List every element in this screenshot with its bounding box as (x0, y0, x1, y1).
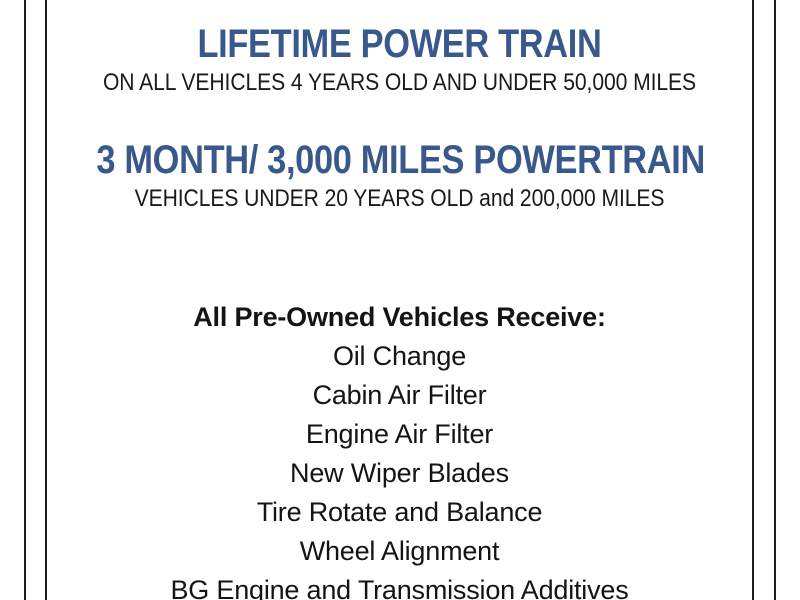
border-rule-right-inner (752, 0, 754, 600)
warranty-subtitle-3month: VEHICLES UNDER 20 YEARS OLD and 200,000 … (89, 186, 709, 212)
service-item: Cabin Air Filter (47, 376, 752, 415)
service-item: New Wiper Blades (47, 454, 752, 493)
service-item: BG Engine and Transmission Additives (47, 571, 752, 600)
warranty-title-3month: 3 MONTH/ 3,000 MILES POWERTRAIN (96, 140, 702, 180)
services-section: All Pre-Owned Vehicles Receive: Oil Chan… (47, 298, 752, 600)
warranty-block-3month: 3 MONTH/ 3,000 MILES POWERTRAIN VEHICLES… (47, 140, 752, 212)
service-item: Engine Air Filter (47, 415, 752, 454)
border-rule-left-outer (24, 0, 26, 600)
flyer-content: LIFETIME POWER TRAIN ON ALL VEHICLES 4 Y… (47, 0, 752, 600)
warranty-block-lifetime: LIFETIME POWER TRAIN ON ALL VEHICLES 4 Y… (47, 24, 752, 96)
services-heading: All Pre-Owned Vehicles Receive: (47, 298, 752, 337)
border-rule-right-outer (774, 0, 776, 600)
service-item: Oil Change (47, 337, 752, 376)
service-item: Tire Rotate and Balance (47, 493, 752, 532)
warranty-title-lifetime: LIFETIME POWER TRAIN (96, 24, 702, 64)
services-list: Oil ChangeCabin Air FilterEngine Air Fil… (47, 337, 752, 600)
warranty-flyer: LIFETIME POWER TRAIN ON ALL VEHICLES 4 Y… (0, 0, 800, 600)
service-item: Wheel Alignment (47, 532, 752, 571)
warranty-subtitle-lifetime: ON ALL VEHICLES 4 YEARS OLD AND UNDER 50… (89, 70, 709, 96)
